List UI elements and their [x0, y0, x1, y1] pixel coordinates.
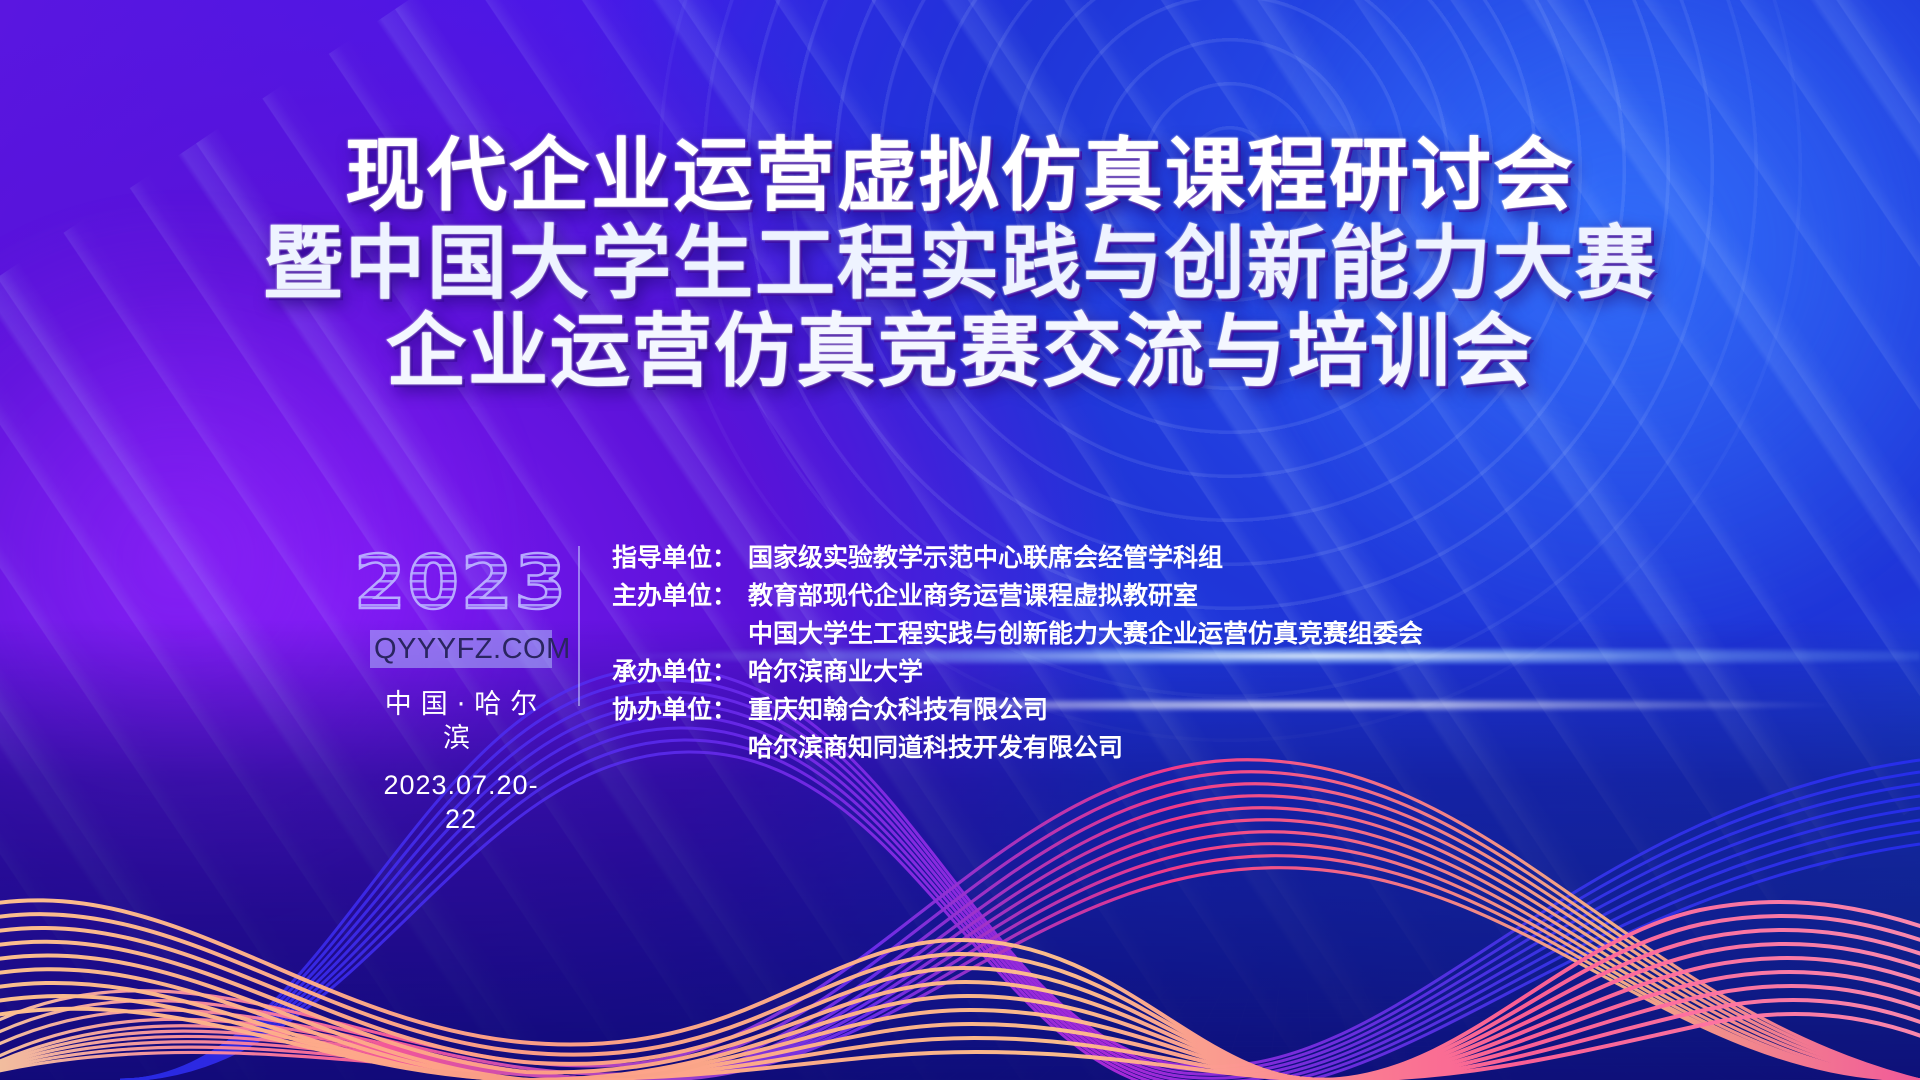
organizer-label: 指导单位： — [612, 542, 738, 573]
organizer-value: 哈尔滨商业大学 — [748, 656, 923, 687]
event-city: 中国·哈尔滨 — [370, 688, 552, 756]
conference-banner: 现代企业运营虚拟仿真课程研讨会 暨中国大学生工程实践与创新能力大赛 企业运营仿真… — [0, 0, 1920, 1080]
organizer-value: 哈尔滨商知同道科技开发有限公司 — [748, 732, 1123, 763]
title-line-1: 现代企业运营虚拟仿真课程研讨会 — [0, 132, 1920, 220]
brand-logo-block: 2023 QYYYFZ.COM 中国·哈尔滨 2023.07.20-22 — [370, 540, 578, 836]
organizer-row-host: 主办单位： 教育部现代企业商务运营课程虚拟教研室 — [612, 580, 1423, 611]
organizer-value: 国家级实验教学示范中心联席会经管学科组 — [748, 542, 1223, 573]
year-logo: 2023 — [370, 540, 552, 626]
organizer-value: 重庆知翰合众科技有限公司 — [748, 694, 1048, 725]
organizer-list: 指导单位： 国家级实验教学示范中心联席会经管学科组 主办单位： 教育部现代企业商… — [580, 540, 1423, 770]
organizer-label: 主办单位： — [612, 580, 738, 611]
organizer-row-guidance: 指导单位： 国家级实验教学示范中心联席会经管学科组 — [612, 542, 1423, 573]
page-title: 现代企业运营虚拟仿真课程研讨会 暨中国大学生工程实践与创新能力大赛 企业运营仿真… — [0, 132, 1920, 396]
organizer-label: 协办单位： — [612, 694, 738, 725]
organizer-row-host-2: 主办单位： 中国大学生工程实践与创新能力大赛企业运营仿真竞赛组委会 — [612, 618, 1423, 649]
event-dates: 2023.07.20-22 — [370, 768, 552, 836]
title-line-2: 暨中国大学生工程实践与创新能力大赛 — [0, 220, 1920, 308]
organizer-row-coorganizer: 协办单位： 重庆知翰合众科技有限公司 — [612, 694, 1423, 725]
organizer-value: 中国大学生工程实践与创新能力大赛企业运营仿真竞赛组委会 — [748, 618, 1423, 649]
organizer-row-coorganizer-2: 协办单位： 哈尔滨商知同道科技开发有限公司 — [612, 732, 1423, 763]
event-info-block: 2023 QYYYFZ.COM 中国·哈尔滨 2023.07.20-22 指导单… — [370, 540, 1423, 836]
organizer-value: 教育部现代企业商务运营课程虚拟教研室 — [748, 580, 1198, 611]
organizer-label: 承办单位： — [612, 656, 738, 687]
website-domain[interactable]: QYYYFZ.COM — [370, 630, 552, 668]
organizer-row-organizer: 承办单位： 哈尔滨商业大学 — [612, 656, 1423, 687]
year-logo-text: 2023 — [354, 546, 568, 620]
title-line-3: 企业运营仿真竞赛交流与培训会 — [0, 308, 1920, 396]
